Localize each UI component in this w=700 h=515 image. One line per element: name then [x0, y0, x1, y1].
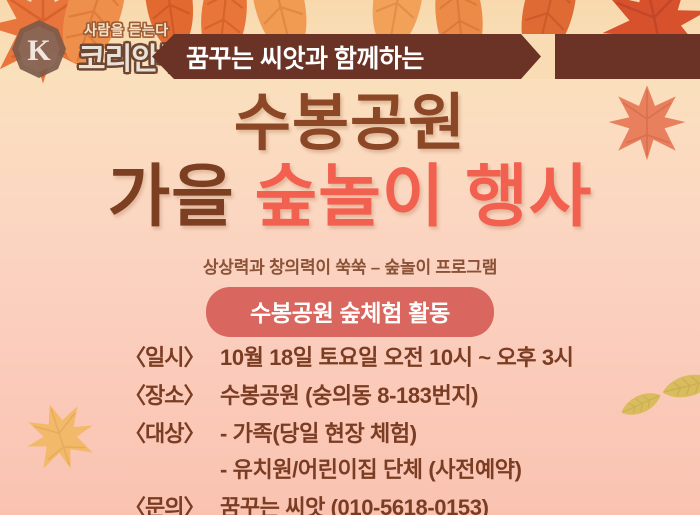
detail-value-line: 꿈꾸는 씨앗 (010-5618-0153) — [220, 495, 489, 515]
event-details-list: 〈일시〉 10월 18일 토요일 오전 10시 ~ 오후 3시 〈장소〉 수봉공… — [0, 340, 700, 515]
detail-row-contact: 〈문의〉 꿈꾸는 씨앗 (010-5618-0153) — [0, 490, 700, 515]
badge-container: 수봉공원 숲체험 활동 — [0, 287, 700, 337]
ribbon-banner-text: 꿈꾸는 씨앗과 함께하는 — [186, 39, 424, 75]
detail-value: 수봉공원 (숭의동 8-183번지) — [220, 378, 478, 410]
ribbon-banner-content: 꿈꾸는 씨앗과 함께하는 — [152, 34, 700, 79]
detail-row-datetime: 〈일시〉 10월 18일 토요일 오전 10시 ~ 오후 3시 — [0, 340, 700, 372]
detail-value: 10월 18일 토요일 오전 10시 ~ 오후 3시 — [220, 340, 574, 372]
detail-label: 〈대상〉 — [124, 416, 220, 448]
event-tagline: 상상력과 창의력이 쑥쑥 – 숲놀이 프로그램 — [0, 253, 700, 278]
detail-value-line: 10월 18일 토요일 오전 10시 ~ 오후 3시 — [220, 345, 574, 370]
korean-today-logo-mark: K — [8, 18, 70, 80]
page-title-sub-brown: 가을 — [108, 159, 235, 235]
svg-text:K: K — [27, 34, 51, 67]
detail-value-line: 수봉공원 (숭의동 8-183번지) — [220, 383, 478, 408]
detail-value: - 가족(당일 현장 체험) - 유치원/어린이집 단체 (사전예약) — [220, 416, 522, 484]
detail-value-line: - 가족(당일 현장 체험) — [220, 416, 522, 448]
activity-badge: 수봉공원 숲체험 활동 — [206, 287, 494, 337]
detail-label: 〈장소〉 — [124, 378, 220, 410]
detail-row-location: 〈장소〉 수봉공원 (숭의동 8-183번지) — [0, 378, 700, 410]
detail-row-audience: 〈대상〉 - 가족(당일 현장 체험) - 유치원/어린이집 단체 (사전예약) — [0, 416, 700, 484]
logo-name-primary: 코리안 — [78, 43, 158, 76]
page-title-main: 수봉공원 — [0, 93, 700, 155]
detail-value: 꿈꾸는 씨앗 (010-5618-0153) — [220, 490, 489, 515]
detail-value-line: - 유치원/어린이집 단체 (사전예약) — [220, 452, 522, 484]
page-title-sub-coral: 숲놀이 행사 — [255, 159, 593, 235]
detail-label: 〈문의〉 — [124, 490, 220, 515]
detail-label: 〈일시〉 — [124, 340, 220, 372]
page-title-sub: 가을 숲놀이 행사 — [0, 163, 700, 231]
poster-canvas: K 사람을 듣는다 코리안투데협 꿈꾸는 씨앗과 함께하는 수봉공원 가을 숲놀… — [0, 0, 700, 515]
